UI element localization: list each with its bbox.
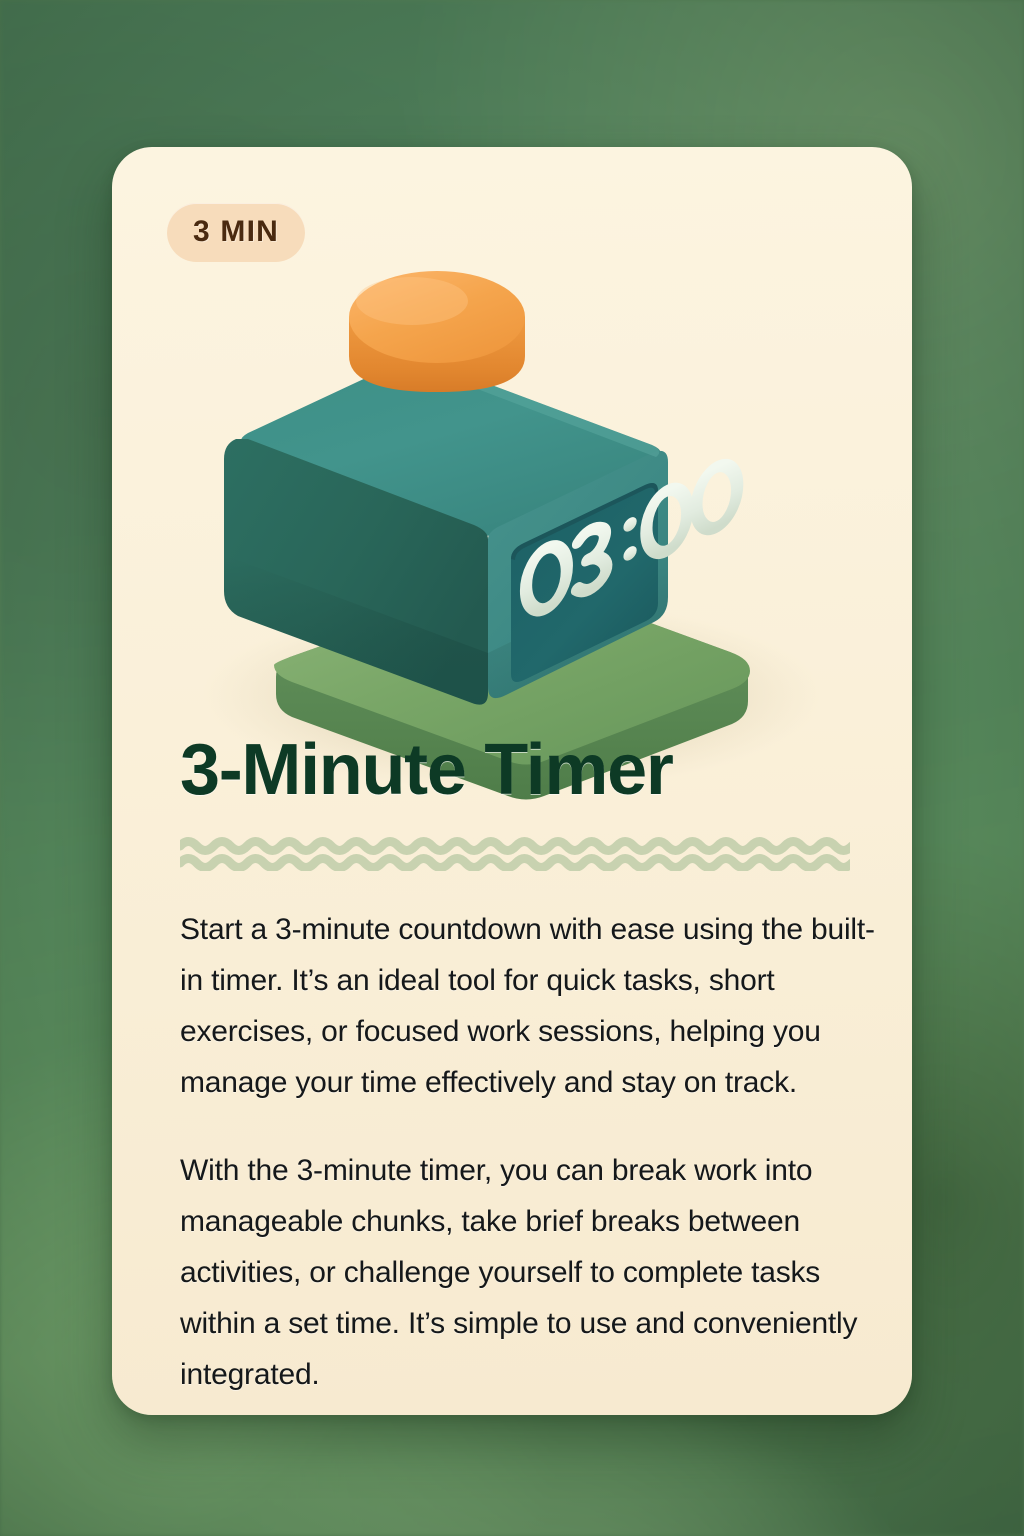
timer-info-card: 3 MIN [112, 147, 912, 1415]
3d-timer-illustration [112, 225, 912, 815]
button-top-highlight [356, 277, 468, 325]
wavy-divider [180, 837, 850, 871]
description-paragraph-1: Start a 3-minute countdown with ease usi… [180, 904, 886, 1108]
timer-button[interactable] [349, 271, 525, 392]
description-body: Start a 3-minute countdown with ease usi… [180, 904, 886, 1400]
page-title: 3-Minute Timer [180, 733, 880, 809]
description-paragraph-2: With the 3-minute timer, you can break w… [180, 1145, 886, 1400]
